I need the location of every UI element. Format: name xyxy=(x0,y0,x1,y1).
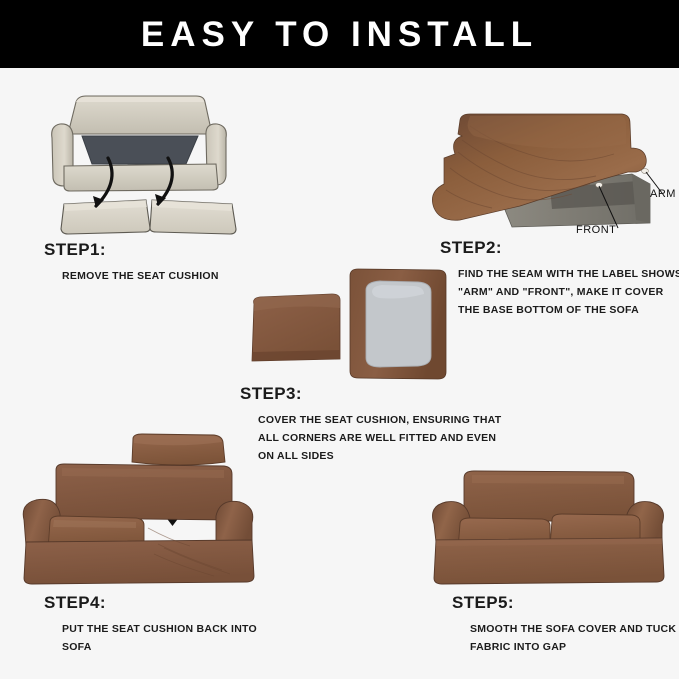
sofa-front-skirt xyxy=(64,164,218,191)
step2-draped-sofa-svg xyxy=(400,96,675,241)
step4-description: PUT THE SEAT CUSHION BACK INTO SOFA xyxy=(62,620,257,656)
step1-line-1: REMOVE THE SEAT CUSHION xyxy=(62,267,219,285)
step2-title: STEP2: xyxy=(440,238,679,258)
sofa4-front-skirt xyxy=(24,540,254,584)
step2-text-block: STEP2: FIND THE SEAM WITH THE LABEL SHOW… xyxy=(440,238,679,319)
step3-line-1: COVER THE SEAT CUSHION, ENSURING THAT xyxy=(258,411,501,429)
step3-title: STEP3: xyxy=(240,384,501,404)
step5-sofa-svg xyxy=(424,448,674,588)
infographic-page: EASY TO INSTALL xyxy=(0,0,679,679)
step2-line-1: FIND THE SEAM WITH THE LABEL SHOWS xyxy=(458,265,679,283)
arm-callout-label: ARM xyxy=(650,188,676,200)
step1-description: REMOVE THE SEAT CUSHION xyxy=(62,267,219,285)
exposed-seat-base xyxy=(82,136,198,164)
arm-label-tag xyxy=(642,169,649,174)
step5-description: SMOOTH THE SOFA COVER AND TUCK THE FABRI… xyxy=(470,620,679,656)
sofa4-right-arm xyxy=(216,501,253,546)
header-banner: EASY TO INSTALL xyxy=(0,0,679,68)
step2-description: FIND THE SEAM WITH THE LABEL SHOWS "ARM"… xyxy=(458,265,679,319)
step4-line-1: PUT THE SEAT CUSHION BACK INTO xyxy=(62,620,257,638)
step2-line-2: "ARM" AND "FRONT", MAKE IT COVER xyxy=(458,283,679,301)
step3-illustration xyxy=(232,264,452,391)
step4-line-2: SOFA xyxy=(62,638,257,656)
step3-line-3: ON ALL SIDES xyxy=(258,447,501,465)
page-title: EASY TO INSTALL xyxy=(141,17,538,52)
step4-text-block: STEP4: PUT THE SEAT CUSHION BACK INTO SO… xyxy=(44,593,257,656)
step3-cushions-svg xyxy=(232,264,452,386)
step1-text-block: STEP1: REMOVE THE SEAT CUSHION xyxy=(44,240,219,285)
sofa5-backrest-highlight xyxy=(472,475,624,484)
step3-description: COVER THE SEAT CUSHION, ENSURING THAT AL… xyxy=(258,411,501,465)
step5-illustration xyxy=(424,448,674,593)
step1-illustration xyxy=(46,86,336,246)
step1-title: STEP1: xyxy=(44,240,219,260)
step2-line-3: THE BASE BOTTOM OF THE SOFA xyxy=(458,301,679,319)
step4-title: STEP4: xyxy=(44,593,257,613)
step5-line-2: FABRIC INTO GAP xyxy=(470,638,679,656)
step3-line-2: ALL CORNERS ARE WELL FITTED AND EVEN xyxy=(258,429,501,447)
step5-title: STEP5: xyxy=(452,593,679,613)
step5-text-block: STEP5: SMOOTH THE SOFA COVER AND TUCK TH… xyxy=(452,593,679,656)
backrest-highlight xyxy=(76,97,204,102)
front-callout-label: FRONT xyxy=(576,224,616,236)
step2-illustration xyxy=(400,96,675,246)
step1-sofa-svg xyxy=(46,86,336,241)
step3-text-block: STEP3: COVER THE SEAT CUSHION, ENSURING … xyxy=(240,384,501,465)
step5-line-1: SMOOTH THE SOFA COVER AND TUCK THE xyxy=(470,620,679,638)
